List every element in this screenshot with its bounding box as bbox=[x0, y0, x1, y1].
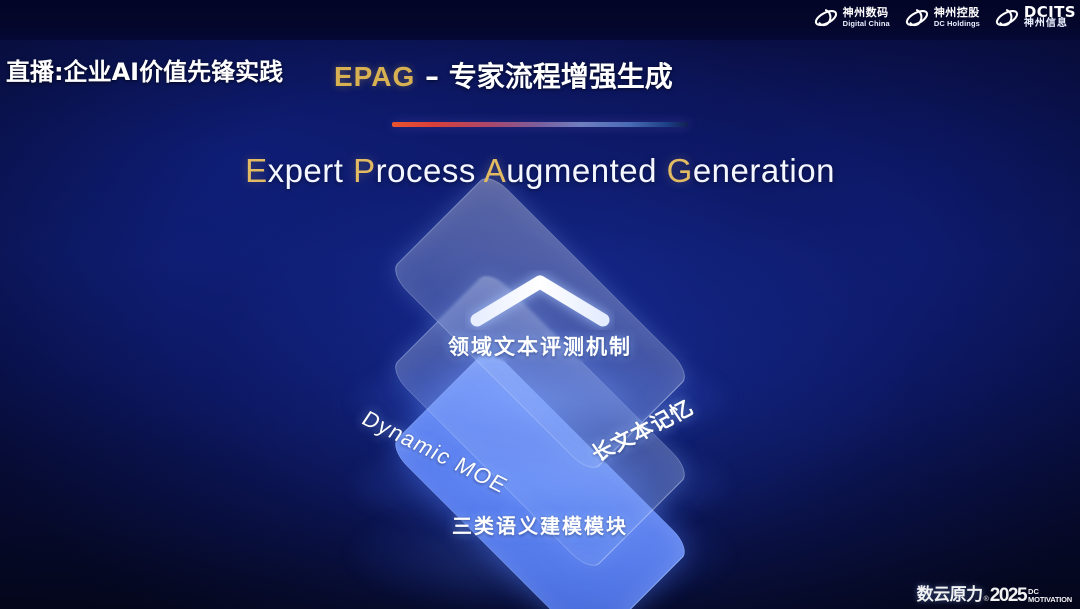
subtitle-cap-g: G bbox=[667, 152, 693, 189]
swirl-icon bbox=[904, 5, 930, 31]
partner-name-cn: 神州数码 bbox=[843, 7, 890, 18]
partner-name-en: Digital China bbox=[843, 18, 890, 29]
partner-logo-digital-china[interactable]: 神州数码 Digital China bbox=[813, 5, 890, 31]
subtitle-cap-e: E bbox=[245, 152, 268, 189]
watermark-dc-motivation: DC MOTIVATION bbox=[1028, 588, 1072, 605]
subtitle-rest-p: rocess bbox=[376, 152, 484, 189]
slide-title-acronym: EPAG bbox=[334, 61, 415, 92]
watermark-registered-mark: ® bbox=[984, 594, 989, 605]
live-stream-title: 直播:企业AI价值先锋实践 bbox=[6, 52, 283, 87]
subtitle-cap-p: P bbox=[353, 152, 376, 189]
watermark-motivation-text: MOTIVATION bbox=[1028, 596, 1072, 604]
watermark-year: 2025 bbox=[990, 586, 1026, 605]
partner-name-en: DC Holdings bbox=[934, 18, 980, 29]
watermark-logo: 数云原力 ® 2025 DC MOTIVATION bbox=[917, 586, 1072, 605]
subtitle-rest-a: ugmented bbox=[506, 152, 666, 189]
subtitle-rest-e: xpert bbox=[268, 152, 354, 189]
partner-logo-dcits[interactable]: DCITS 神州信息 bbox=[994, 5, 1076, 31]
subtitle-cap-a: A bbox=[484, 152, 507, 189]
swirl-icon bbox=[994, 5, 1020, 31]
slide-canvas: 领域文本评测机制 Dynamic MOE 长文本记忆 三类语义建模模块 数云原力… bbox=[0, 0, 1080, 609]
subtitle-rest-g: eneration bbox=[693, 152, 835, 189]
slide-title-chinese: 专家流程增强生成 bbox=[449, 60, 673, 93]
slide-title: EPAG – 专家流程增强生成 bbox=[334, 55, 673, 95]
gradient-divider bbox=[392, 122, 688, 127]
partner-logos: 神州数码 Digital China 神州控股 DC Holdings DCIT… bbox=[813, 5, 1076, 31]
slide-title-dash: – bbox=[415, 60, 449, 93]
layer-top-label: 领域文本评测机制 bbox=[0, 331, 1080, 361]
chevron-up-icon bbox=[465, 270, 615, 330]
watermark-name-cn: 数云原力 bbox=[917, 586, 983, 605]
partner-name-en: DCITS bbox=[1024, 7, 1076, 18]
swirl-icon bbox=[813, 5, 839, 31]
partner-name-cn: 神州控股 bbox=[934, 7, 980, 18]
slide-subtitle: Expert Process Augmented Generation bbox=[0, 152, 1080, 190]
partner-logo-dc-holdings[interactable]: 神州控股 DC Holdings bbox=[904, 5, 980, 31]
layer-bottom-label: 三类语义建模模块 bbox=[0, 510, 1080, 539]
